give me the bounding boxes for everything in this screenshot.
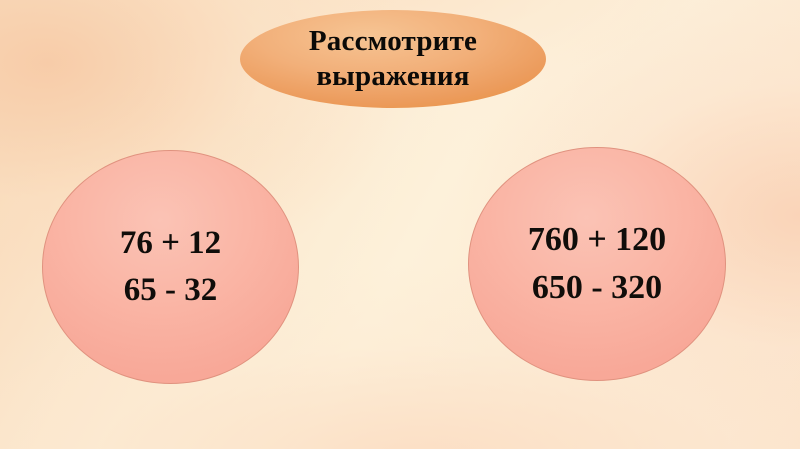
title-banner: Рассмотрите выражения <box>240 10 546 108</box>
expression-left-line-2: 65 - 32 <box>124 267 218 314</box>
expression-left-line-1: 76 + 12 <box>120 220 221 267</box>
title-line-1: Рассмотрите <box>309 24 477 59</box>
slide-canvas: Рассмотрите выражения 76 + 12 65 - 32 76… <box>0 0 800 449</box>
expression-circle-left: 76 + 12 65 - 32 <box>42 150 299 384</box>
expression-circle-right: 760 + 120 650 - 320 <box>468 147 726 381</box>
expression-right-line-1: 760 + 120 <box>528 216 666 264</box>
expression-right-line-2: 650 - 320 <box>532 264 662 312</box>
title-line-2: выражения <box>316 59 469 94</box>
